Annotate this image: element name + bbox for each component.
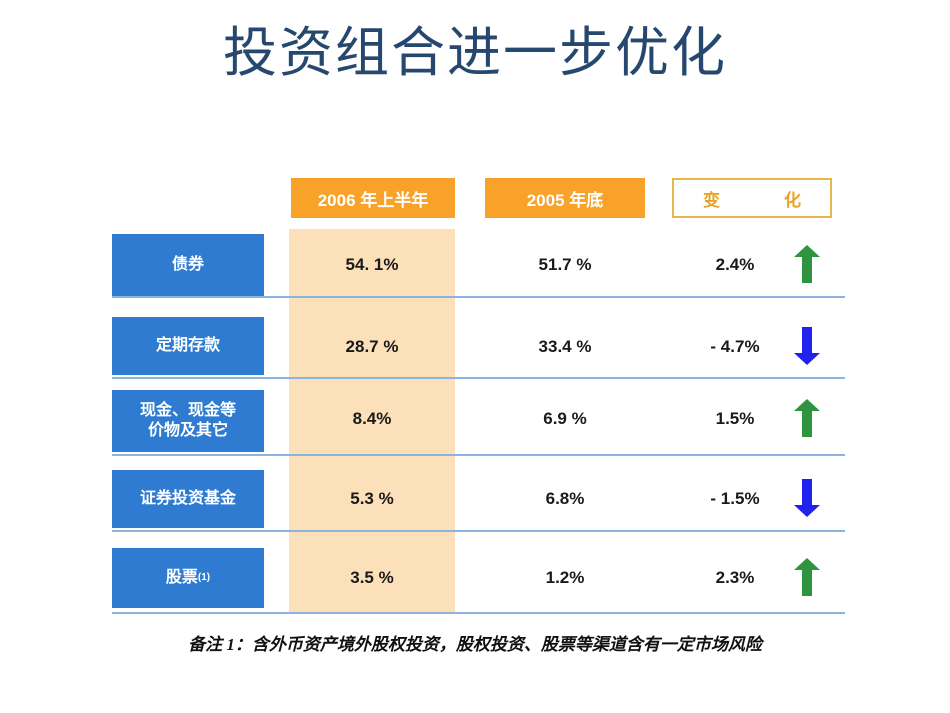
row-label-superscript: (1) xyxy=(198,572,210,585)
footnote: 备注 1：含外币资产境外股权投资，股权投资、股票等渠道含有一定市场风险 xyxy=(0,630,950,655)
cell-2005-row1: 51.7 % xyxy=(485,255,645,275)
cell-2005-row5: 1.2% xyxy=(485,568,645,588)
cell-2005-row4: 6.8% xyxy=(485,489,645,509)
row-label-4: 证券投资基金 xyxy=(112,470,264,528)
arrow-up-icon xyxy=(785,244,829,284)
cell-2006-row5: 3.5 % xyxy=(289,568,455,588)
page-title: 投资组合进一步优化 xyxy=(0,22,950,84)
cell-change-row5: 2.3% xyxy=(665,568,805,588)
cell-2006-row1: 54. 1% xyxy=(289,255,455,275)
cell-2006-row2: 28.7 % xyxy=(289,337,455,357)
row-separator xyxy=(112,296,845,298)
row-label-5: 股票(1) xyxy=(112,548,264,608)
row-label-text: 现金、现金等价物及其它 xyxy=(140,401,236,441)
cell-change-row4: - 1.5% xyxy=(665,489,805,509)
column-header-2005: 2005 年底 xyxy=(485,178,645,218)
arrow-up-icon xyxy=(785,398,829,438)
row-label-3: 现金、现金等价物及其它 xyxy=(112,390,264,452)
row-label-text: 债券 xyxy=(172,255,204,275)
arrow-up-icon xyxy=(785,557,829,597)
cell-2006-row3: 8.4% xyxy=(289,409,455,429)
cell-change-row1: 2.4% xyxy=(665,255,805,275)
row-label-text: 股票 xyxy=(166,568,198,588)
cell-2005-row3: 6.9 % xyxy=(485,409,645,429)
row-label-text: 定期存款 xyxy=(156,336,220,356)
column-header-2006: 2006 年上半年 xyxy=(291,178,455,218)
row-label-2: 定期存款 xyxy=(112,317,264,375)
column-header-change: 变 化 xyxy=(672,178,832,218)
row-label-text: 证券投资基金 xyxy=(140,489,236,509)
arrow-down-icon xyxy=(785,326,829,366)
row-separator xyxy=(112,530,845,532)
row-separator xyxy=(112,377,845,379)
cell-2006-row4: 5.3 % xyxy=(289,489,455,509)
arrow-down-icon xyxy=(785,478,829,518)
cell-change-row3: 1.5% xyxy=(665,409,805,429)
cell-2005-row2: 33.4 % xyxy=(485,337,645,357)
row-label-1: 债券 xyxy=(112,234,264,296)
slide-root: 投资组合进一步优化 2006 年上半年 2005 年底 变 化 债券54. 1%… xyxy=(0,0,950,713)
cell-change-row2: - 4.7% xyxy=(665,337,805,357)
row-separator xyxy=(112,454,845,456)
row-separator xyxy=(112,612,845,614)
